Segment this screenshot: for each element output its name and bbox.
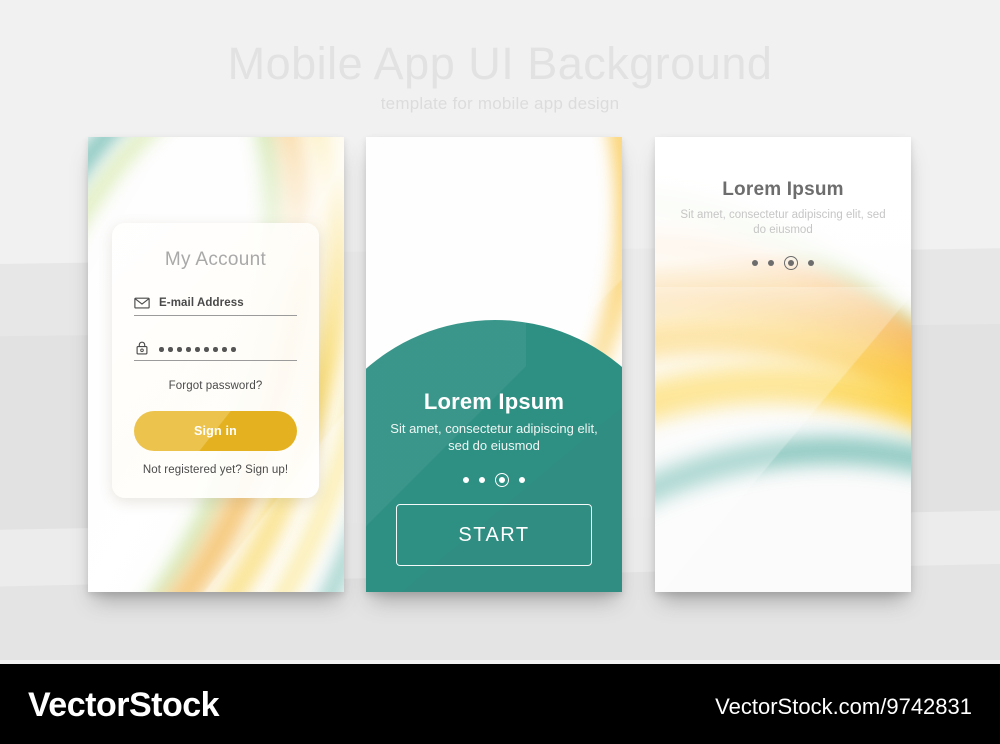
poster-stage: Mobile App UI Background template for mo…	[0, 0, 1000, 660]
pagination-dot-active[interactable]	[784, 256, 798, 270]
splash-subtitle: Sit amet, consectetur adipiscing elit, s…	[673, 208, 893, 238]
pagination-dot[interactable]	[808, 260, 814, 266]
onboarding-pagination[interactable]	[384, 473, 604, 487]
splash-screen-card: Lorem Ipsum Sit amet, consectetur adipis…	[655, 137, 911, 592]
splash-title: Lorem Ipsum	[673, 179, 893, 201]
page-title: Mobile App UI Background	[0, 40, 1000, 87]
lock-icon	[134, 341, 150, 355]
start-button[interactable]: START	[396, 504, 592, 566]
login-heading: My Account	[134, 223, 297, 271]
password-masked-value	[159, 343, 236, 353]
pagination-dot[interactable]	[519, 477, 525, 483]
login-screen-card: My Account E-mail Address Forgot pa	[88, 137, 344, 592]
vectorstock-url-id: VectorStock.com/9742831	[715, 694, 972, 720]
signin-button[interactable]: Sign in	[134, 411, 297, 451]
poster-header: Mobile App UI Background template for mo…	[0, 40, 1000, 114]
pagination-dot-active[interactable]	[495, 473, 509, 487]
pagination-dot[interactable]	[463, 477, 469, 483]
splash-content: Lorem Ipsum Sit amet, consectetur adipis…	[655, 179, 911, 270]
forgot-password-link[interactable]: Forgot password?	[134, 380, 297, 392]
onboarding-content: Lorem Ipsum Sit amet, consectetur adipis…	[366, 389, 622, 487]
pagination-dot[interactable]	[752, 260, 758, 266]
email-field[interactable]: E-mail Address	[134, 296, 297, 316]
page-subtitle: template for mobile app design	[0, 94, 1000, 114]
watermark-footer: VectorStock VectorStock.com/9742831	[0, 664, 1000, 744]
email-field-label: E-mail Address	[159, 297, 244, 309]
signup-prompt-link[interactable]: Not registered yet? Sign up!	[134, 464, 297, 476]
login-form-panel: My Account E-mail Address Forgot pa	[112, 223, 319, 498]
password-field[interactable]	[134, 341, 297, 361]
splash-pagination[interactable]	[673, 256, 893, 270]
pagination-dot[interactable]	[479, 477, 485, 483]
envelope-icon	[134, 296, 150, 310]
vectorstock-logo: VectorStock	[28, 686, 219, 725]
pagination-dot[interactable]	[768, 260, 774, 266]
onboarding-title: Lorem Ipsum	[384, 389, 604, 415]
diagonal-facet	[655, 287, 911, 592]
onboarding-subtitle: Sit amet, consectetur adipiscing elit, s…	[384, 421, 604, 455]
onboarding-screen-card: Lorem Ipsum Sit amet, consectetur adipis…	[366, 137, 622, 592]
